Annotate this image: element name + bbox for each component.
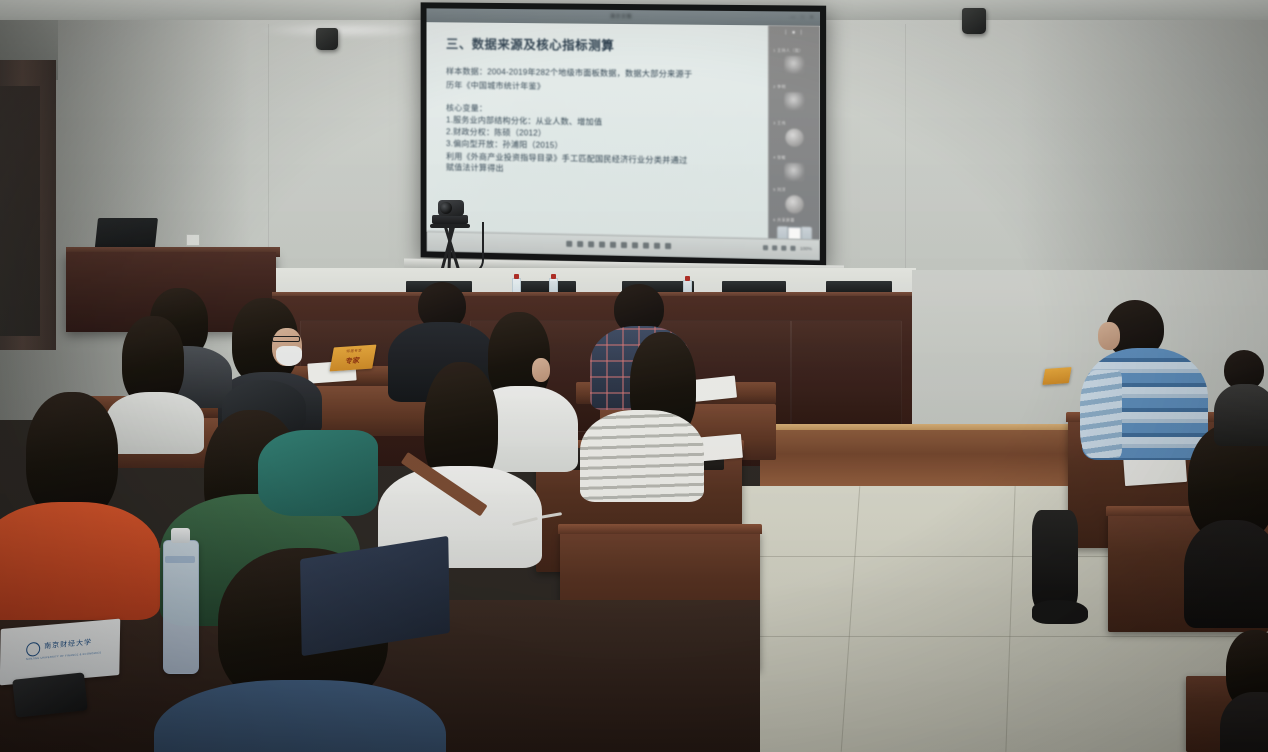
participant-label: 5 刘洋: [769, 187, 820, 194]
legs: [1032, 510, 1078, 610]
hair: [26, 392, 118, 520]
participant-avatar: [784, 56, 804, 74]
comment-icon[interactable]: [577, 241, 583, 247]
normal-view-icon[interactable]: [566, 241, 572, 247]
lecture-hall-scene: 演示文稿 — □ ✕ 三、数据来源及核心指标测算 样本数据：2004-2019年…: [0, 0, 1268, 752]
floor-grout-line: [841, 486, 861, 751]
name-card: 特邀专家 专家: [330, 345, 377, 372]
fit-slide-icon[interactable]: [791, 246, 796, 251]
sleeve: [258, 430, 378, 516]
participant-label: 3 王伟: [769, 120, 820, 127]
slide-canvas: 三、数据来源及核心指标测算 样本数据：2004-2019年282个地级市面板数据…: [426, 22, 820, 240]
arm: [1080, 370, 1122, 458]
person-right-far: [1216, 350, 1268, 440]
denim-jacket: [154, 680, 446, 752]
participant-entry[interactable]: 4 张敏: [769, 154, 820, 181]
floor-grout-line: [1005, 486, 1015, 752]
camera-cable: [466, 222, 484, 274]
presentation-window-title: 演示文稿: [610, 13, 632, 20]
zoom-level-label: 100%: [800, 246, 812, 251]
shoe: [1032, 600, 1088, 624]
torso: [1214, 384, 1268, 446]
grid-icon[interactable]: [632, 242, 638, 248]
person-woman-striped: [584, 332, 704, 492]
name-card-name: 专家: [330, 355, 374, 368]
torso: [1220, 692, 1268, 752]
camera-lens-icon: [440, 202, 452, 214]
participant-label: 1 主持人（我）: [769, 48, 820, 55]
person-right-legs: [1032, 430, 1086, 610]
face: [1098, 322, 1120, 350]
participant-label: 4 张敏: [769, 154, 820, 161]
status-bar-icon-group[interactable]: [566, 241, 671, 249]
ceiling-light-glare: [255, 22, 435, 38]
slideshow-icon[interactable]: [621, 242, 627, 248]
sorter-view-icon[interactable]: [599, 242, 605, 248]
wall-outlet: [186, 234, 200, 246]
torso: [1184, 520, 1268, 628]
wall-speaker-icon: [962, 8, 986, 34]
dais-panel: [790, 320, 902, 432]
meeting-participant-rail[interactable]: | ■ | 1 主持人（我） 2 李明 3 王伟 4 张敏: [768, 25, 820, 240]
layout-icon[interactable]: [654, 243, 660, 249]
person-teal-sleeve: [258, 430, 378, 520]
person-woman-orange-coat: [0, 392, 164, 612]
zoom-controls[interactable]: 100%: [763, 245, 811, 251]
name-card: [1042, 367, 1071, 385]
camera-body: [432, 215, 468, 224]
participant-label: 6 共享屏幕: [769, 217, 820, 224]
glasses-icon: [272, 336, 300, 342]
participant-avatar: [785, 129, 803, 147]
notes-icon[interactable]: [588, 241, 594, 247]
participant-avatar: [785, 195, 803, 214]
bench-top-mid-3: [558, 524, 762, 534]
participant-label: 2 李明: [769, 84, 820, 91]
university-logo-icon: [26, 642, 40, 657]
person-right-front: [1188, 424, 1268, 624]
floor-grout-line: [700, 636, 1268, 637]
notebook-brand: 南京财经大学: [44, 637, 92, 651]
participant-avatar: [784, 163, 804, 182]
bottle-cap: [171, 528, 190, 543]
slide-title: 三、数据来源及核心指标测算: [446, 38, 759, 55]
participant-avatar: [784, 92, 804, 110]
reading-view-icon[interactable]: [610, 242, 616, 248]
tripod-plate: [430, 224, 470, 228]
face-mask: [276, 346, 302, 366]
settings-icon[interactable]: [665, 243, 671, 249]
smartphone[interactable]: [12, 672, 88, 717]
zoom-slider-handle[interactable]: [773, 245, 778, 250]
wall-speaker-icon: [316, 28, 338, 50]
display-icon[interactable]: [643, 242, 649, 248]
zoom-in-icon[interactable]: [782, 246, 787, 251]
participant-entry[interactable]: 3 王伟: [769, 120, 820, 147]
bottle-neck-ring: [165, 556, 195, 563]
orange-coat: [0, 502, 160, 620]
participant-entry[interactable]: 1 主持人（我）: [769, 48, 820, 75]
striped-sweater: [580, 410, 704, 502]
rail-header: | ■ |: [769, 29, 820, 36]
person-right-rear: [1226, 630, 1268, 752]
zoom-out-icon[interactable]: [763, 245, 768, 250]
participant-entry[interactable]: 5 刘洋: [769, 187, 820, 214]
participant-entry[interactable]: 2 李明: [769, 84, 820, 111]
projected-image: 演示文稿 — □ ✕ 三、数据来源及核心指标测算 样本数据：2004-2019年…: [426, 8, 820, 260]
window-controls: — □ ✕: [790, 14, 815, 20]
